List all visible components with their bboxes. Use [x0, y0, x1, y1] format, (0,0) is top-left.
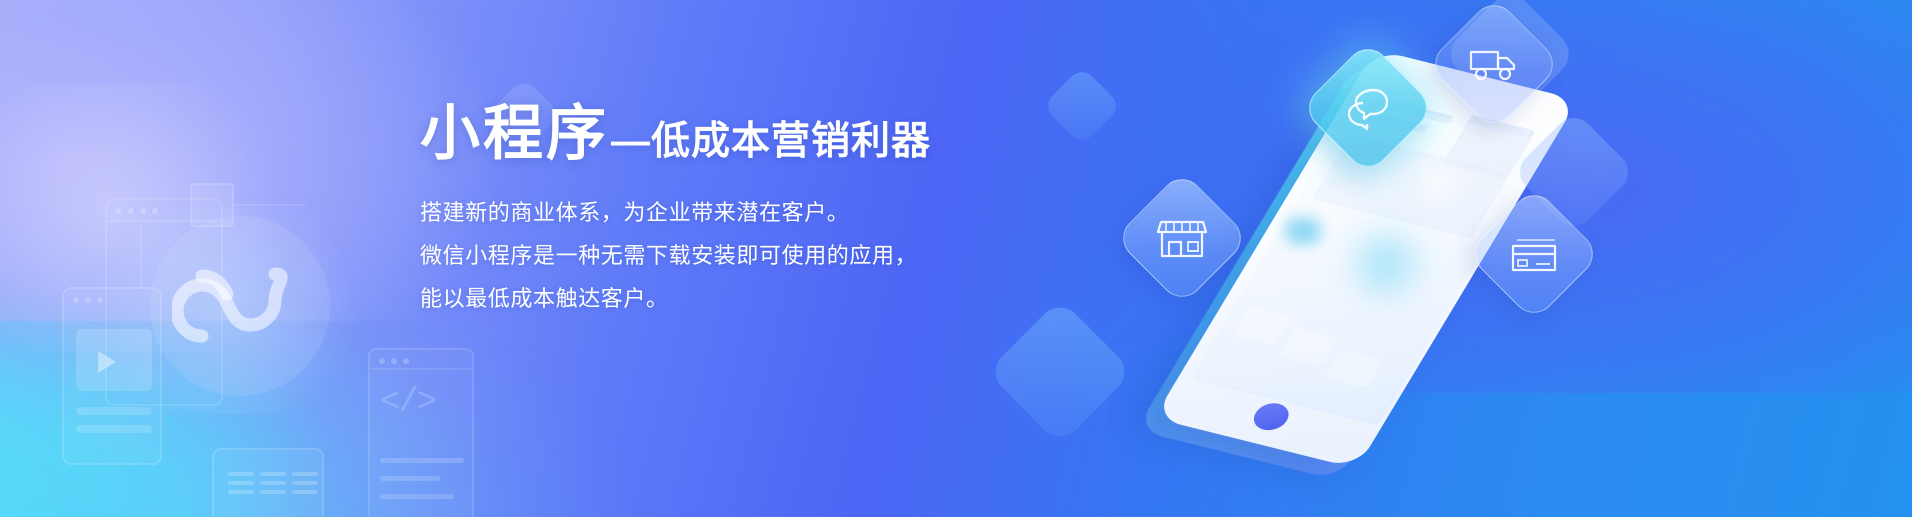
storefront-glyph	[1157, 216, 1207, 260]
window-dot	[140, 208, 146, 214]
decorative-glow	[1286, 218, 1320, 244]
card-dot	[97, 297, 103, 303]
delivery-truck-icon	[1447, 17, 1541, 111]
video-play-card-icon	[62, 287, 162, 465]
list-column	[292, 472, 318, 499]
text-placeholder-line	[76, 407, 152, 415]
mini-program-logo-icon	[150, 216, 330, 396]
decorative-glow	[1342, 220, 1430, 308]
glass-block	[1278, 327, 1338, 367]
watermark-connector-line	[234, 204, 306, 206]
code-dot	[403, 358, 409, 364]
description-line: 能以最低成本触达客户。	[420, 278, 931, 321]
code-placeholder-line	[380, 494, 454, 499]
list-column	[260, 472, 286, 499]
window-dot	[152, 208, 158, 214]
text-placeholder-line	[76, 425, 152, 433]
mini-program-logo-glyph	[172, 244, 308, 368]
glass-block	[1323, 349, 1383, 389]
glass-block	[1232, 306, 1292, 346]
hero-description: 搭建新的商业体系，为企业带来潜在客户。 微信小程序是一种无需下载安装即可使用的应…	[420, 192, 931, 321]
code-bracket-glyph: </>	[380, 384, 435, 422]
code-dot	[379, 358, 385, 364]
storefront-icon	[1135, 191, 1229, 285]
play-icon	[98, 351, 116, 373]
truck-glyph	[1468, 44, 1520, 84]
card-dot	[85, 297, 91, 303]
window-dot	[128, 208, 134, 214]
glass-block	[1264, 243, 1322, 291]
list-column	[228, 472, 254, 499]
chat-glyph	[1344, 85, 1392, 131]
description-line: 搭建新的商业体系，为企业带来潜在客户。	[420, 192, 931, 235]
window-dots	[116, 208, 158, 214]
hero-illustration	[1090, 0, 1650, 517]
hero-copy: 小程序 —低成本营销利器 搭建新的商业体系，为企业带来潜在客户。 微信小程序是一…	[420, 104, 931, 321]
headline-subtitle: —低成本营销利器	[611, 122, 931, 164]
credit-card-glyph	[1508, 234, 1560, 274]
mini-program-hero-banner: </> 小程序 —低成本营销利器 搭建新的商业体系，为企业带来潜在客户。 微信小…	[0, 0, 1912, 517]
credit-card-icon	[1487, 207, 1581, 301]
code-bracket-icon: </>	[368, 348, 474, 517]
code-panel-dots	[379, 358, 409, 364]
window-dot	[116, 208, 122, 214]
code-placeholder-line	[380, 458, 464, 463]
list-card-icon	[212, 448, 324, 517]
phone-home-button	[1248, 400, 1294, 433]
card-dots	[73, 297, 103, 303]
page-title: 小程序 —低成本营销利器	[420, 104, 931, 164]
code-dot	[391, 358, 397, 364]
decorative-glow	[1408, 152, 1466, 210]
chat-bubbles-icon	[1321, 61, 1415, 155]
card-dot	[73, 297, 79, 303]
headline-main: 小程序	[420, 104, 609, 164]
code-placeholder-line	[380, 476, 440, 481]
description-line: 微信小程序是一种无需下载安装即可使用的应用，	[420, 235, 931, 278]
